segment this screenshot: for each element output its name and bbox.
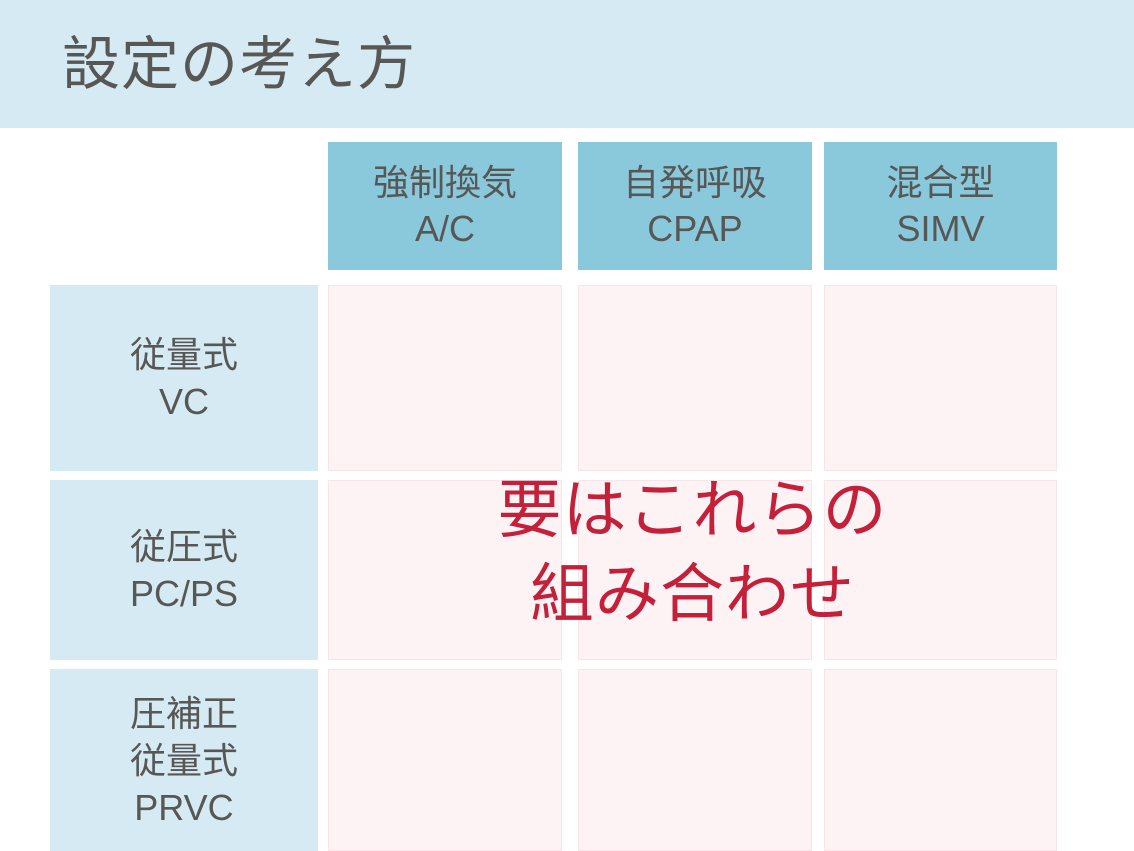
column-header-1-abbr: CPAP <box>623 206 767 252</box>
column-header-forced-ventilation: 強制換気 A/C <box>328 142 562 270</box>
column-header-2-abbr: SIMV <box>886 206 994 252</box>
matrix-cell-prvc-cpap <box>578 669 812 851</box>
matrix-cell-prvc-ac <box>328 669 562 851</box>
page-title: 設定の考え方 <box>62 28 416 102</box>
row-header-1-line2: PC/PS <box>130 570 238 617</box>
ventilation-mode-matrix: 強制換気 A/C 自発呼吸 CPAP 混合型 SIMV 従量式 VC 従圧式 P… <box>0 128 1134 851</box>
row-header-2-line2: 従量式 <box>130 737 238 784</box>
title-banner: 設定の考え方 <box>0 0 1134 128</box>
column-header-0-abbr: A/C <box>373 206 517 252</box>
matrix-cell-vc-simv <box>824 285 1057 471</box>
row-header-0-line2: VC <box>130 378 238 425</box>
column-header-0-jp: 強制換気 <box>373 160 517 206</box>
matrix-cell-vc-cpap <box>578 285 812 471</box>
matrix-cell-vc-ac <box>328 285 562 471</box>
column-header-spontaneous-breathing: 自発呼吸 CPAP <box>578 142 812 270</box>
column-header-2-jp: 混合型 <box>886 160 994 206</box>
matrix-cell-prvc-simv <box>824 669 1057 851</box>
matrix-cell-pcps-ac <box>328 480 562 660</box>
row-header-0-line1: 従量式 <box>130 331 238 378</box>
column-header-mixed-mode: 混合型 SIMV <box>824 142 1057 270</box>
row-header-1-line1: 従圧式 <box>130 523 238 570</box>
matrix-cell-pcps-cpap <box>578 480 812 660</box>
row-header-pressure-regulated-volume-control: 圧補正 従量式 PRVC <box>50 669 318 851</box>
column-header-1-jp: 自発呼吸 <box>623 160 767 206</box>
row-header-volume-control: 従量式 VC <box>50 285 318 471</box>
row-header-2-line1: 圧補正 <box>130 690 238 737</box>
row-header-pressure-control: 従圧式 PC/PS <box>50 480 318 660</box>
row-header-2-line3: PRVC <box>130 784 238 831</box>
matrix-cell-pcps-simv <box>824 480 1057 660</box>
